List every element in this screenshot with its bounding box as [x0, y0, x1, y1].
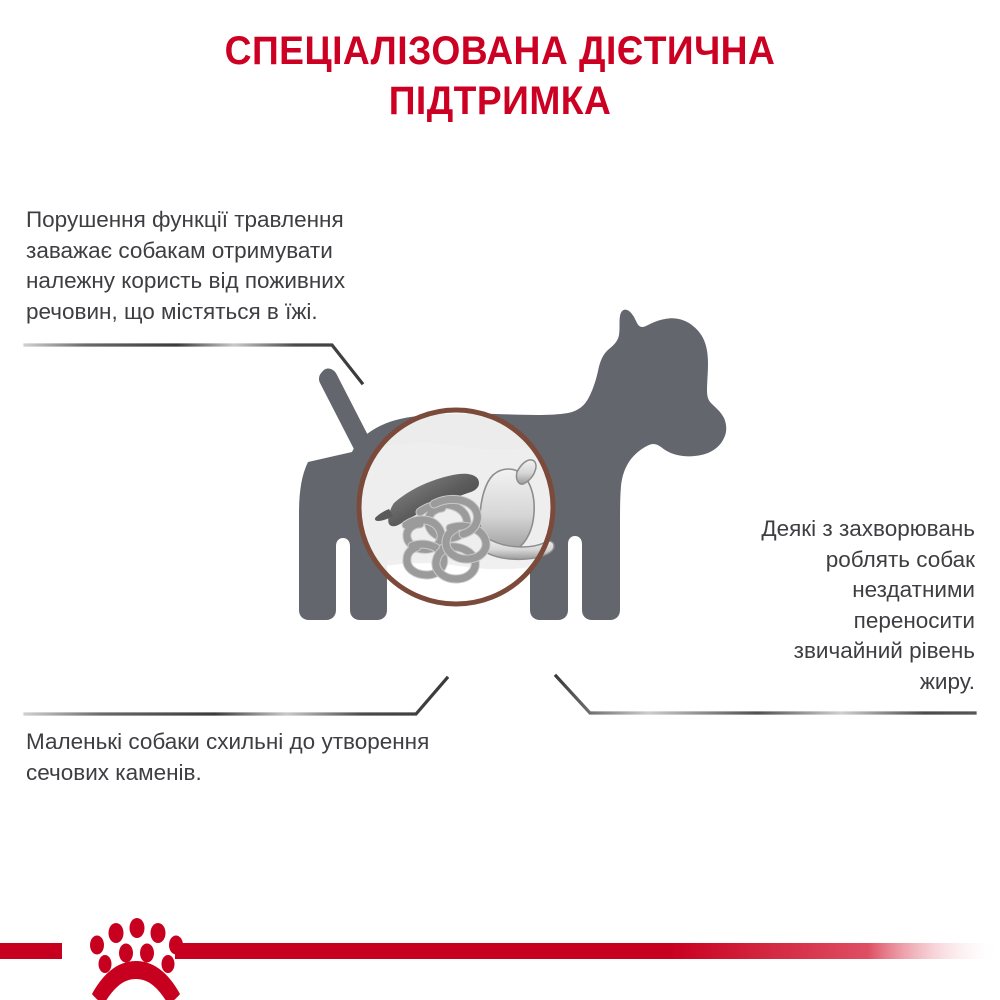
royal-canin-crown-icon: [90, 918, 183, 1000]
connector-top-left: [25, 345, 362, 383]
callout-top-left-text: Порушення функції травлення заважає соба…: [26, 205, 446, 327]
infographic-canvas: СПЕЦІАЛІЗОВАНА ДІЄТИЧНА ПІДТРИМКА: [0, 0, 1000, 1000]
red-rule-right-icon: [175, 943, 1000, 959]
callout-right-text: Деякі з захворювань роблять собак нездат…: [655, 514, 975, 697]
callout-bottom-left-text: Маленькі собаки схильні до утворення сеч…: [26, 727, 586, 788]
illustration-group: [0, 0, 1000, 1000]
connector-bottom-left: [25, 678, 447, 714]
footer-brand-bar: [0, 890, 1000, 1000]
red-rule-left-icon: [0, 943, 62, 959]
